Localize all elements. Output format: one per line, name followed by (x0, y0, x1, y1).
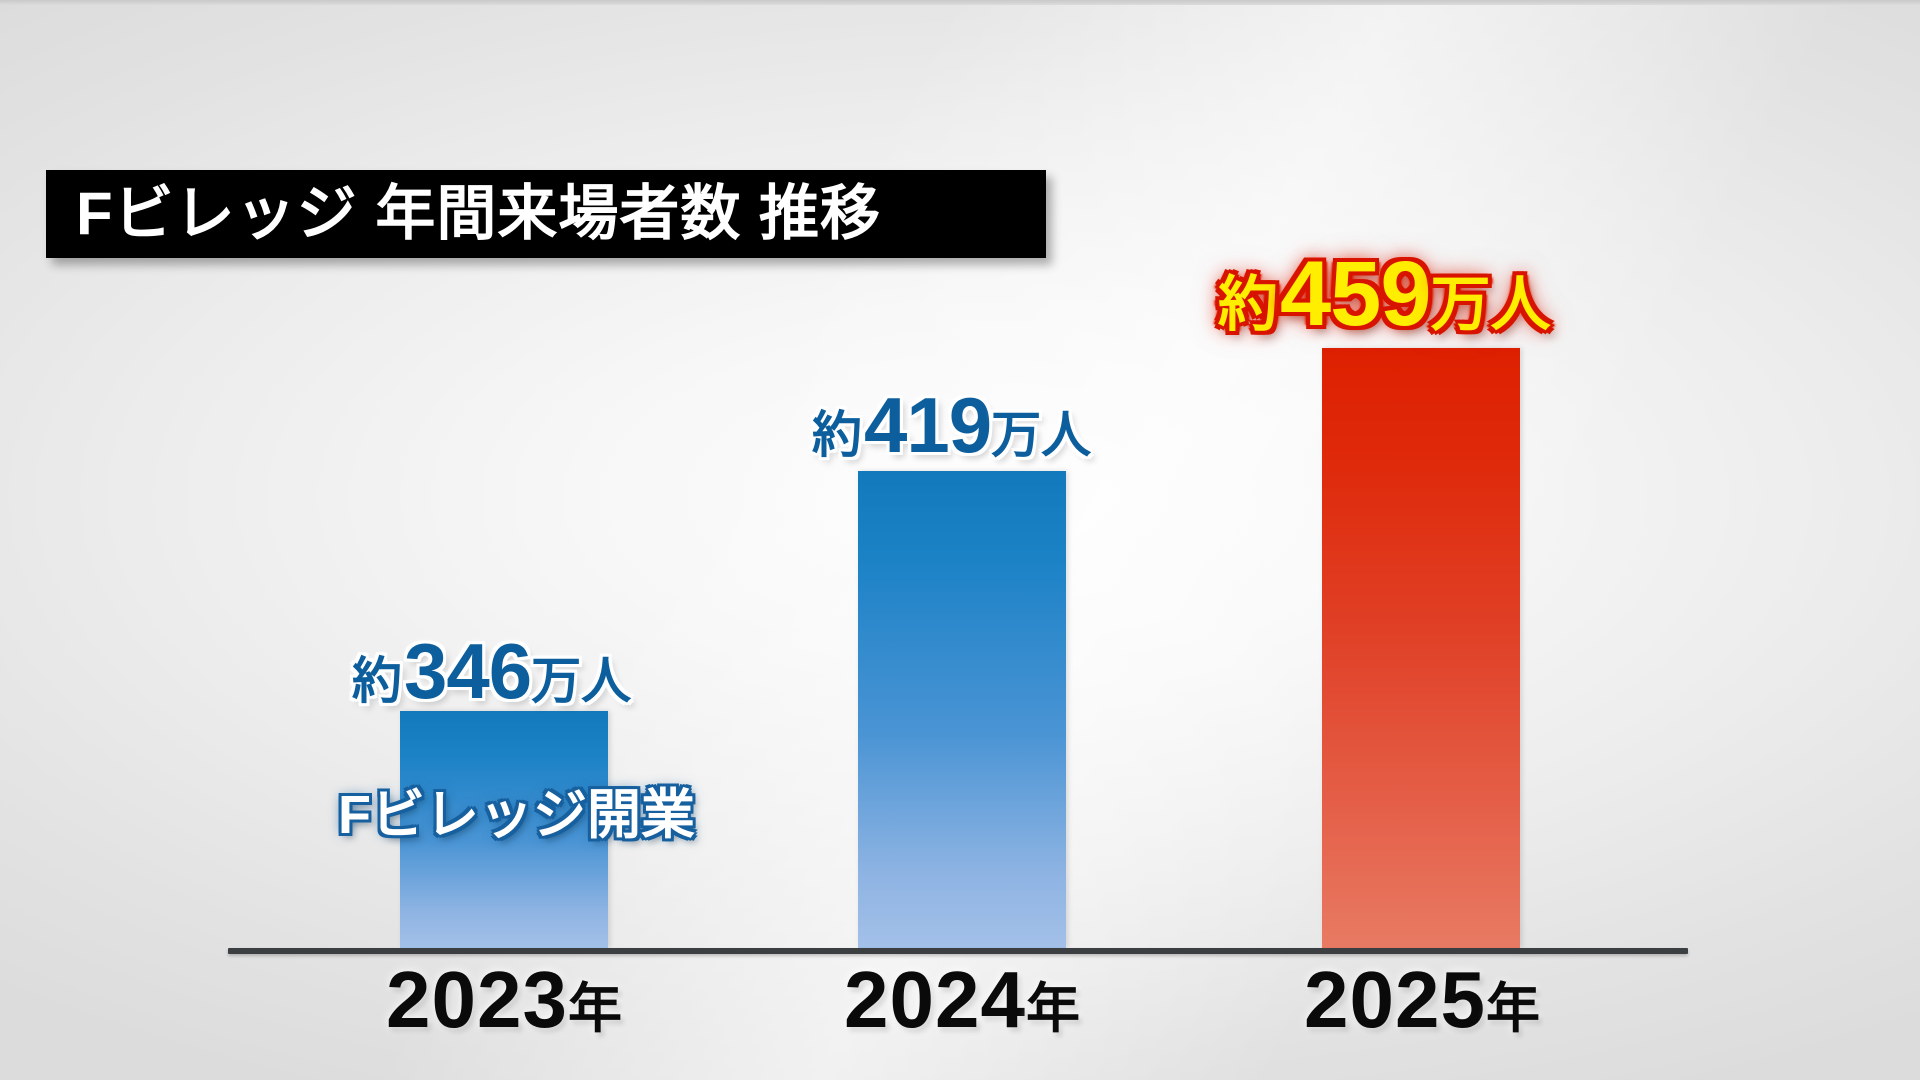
value-label-2025: 約459万人 (1218, 248, 1551, 340)
value-label-2024: 約419万人 (812, 386, 1091, 464)
bar-2024 (858, 471, 1066, 948)
category-label-2023-year: 2023 (386, 955, 568, 1044)
bar-fill-2025 (1322, 348, 1520, 948)
value-label-2025-number: 459 (1280, 243, 1431, 345)
value-label-2025-unit: 万人 (1431, 271, 1551, 338)
value-label-2024-unit: 万人 (991, 407, 1091, 463)
bar-2025 (1322, 348, 1520, 948)
x-axis-line (228, 948, 1688, 954)
category-label-2024-year: 2024 (844, 955, 1026, 1044)
category-label-2025-suffix: 年 (1486, 979, 1540, 1039)
value-label-2023-unit: 万人 (531, 653, 631, 709)
category-label-2024-suffix: 年 (1026, 979, 1080, 1039)
broadcast-chart-graphic: 約346万人 約419万人 約459万人 Fビレッジ開業 2023年 2024年… (0, 0, 1920, 1080)
category-label-2025-year: 2025 (1304, 955, 1486, 1044)
category-label-2025: 2025年 (1242, 960, 1602, 1040)
value-label-2023-number: 346 (404, 627, 531, 715)
bar-chart-plot-area: 約346万人 約419万人 約459万人 Fビレッジ開業 2023年 2024年… (0, 0, 1920, 1080)
category-label-2023-suffix: 年 (568, 979, 622, 1039)
value-label-2023: 約346万人 (352, 632, 631, 710)
annotation-f-village-opening: Fビレッジ開業 (338, 788, 695, 842)
title-banner: Fビレッジ 年間来場者数 推移 (46, 170, 1046, 258)
category-label-2023: 2023年 (324, 960, 684, 1040)
category-label-2024: 2024年 (782, 960, 1142, 1040)
value-label-2023-approx: 約 (352, 653, 402, 709)
chart-title: Fビレッジ 年間来場者数 推移 (46, 184, 881, 244)
value-label-2024-approx: 約 (812, 407, 862, 463)
bar-fill-2024 (858, 471, 1066, 948)
value-label-2025-approx: 約 (1218, 271, 1278, 338)
value-label-2024-number: 419 (864, 381, 991, 469)
